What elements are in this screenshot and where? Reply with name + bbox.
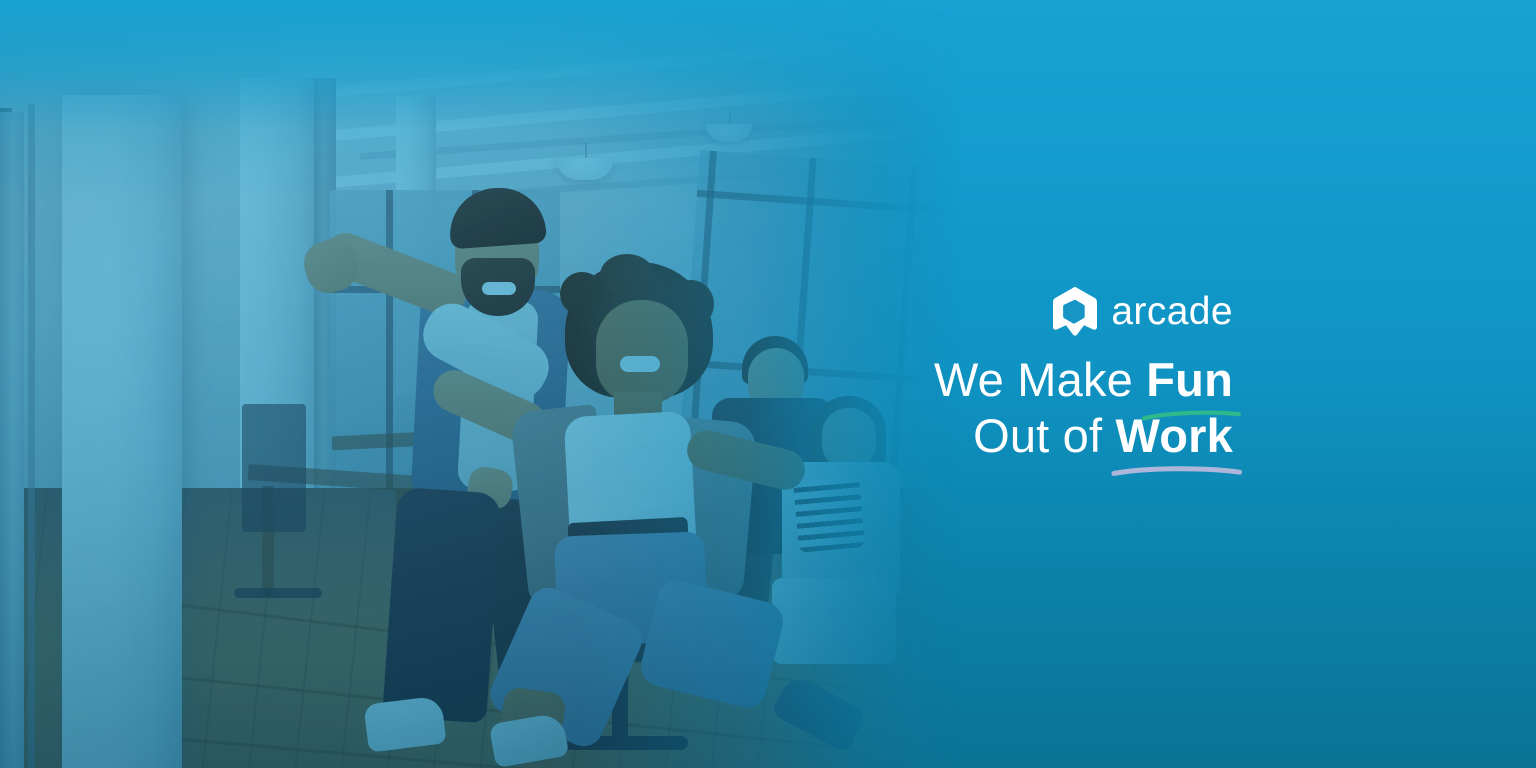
arcade-hexagon-pin-icon (1052, 286, 1098, 336)
photo-vignette (0, 0, 960, 768)
arcade-company-banner: arcade We Make Fun Out of Work (0, 0, 1536, 768)
photo-scene (0, 0, 960, 768)
lavender-brush-underline (1111, 464, 1242, 478)
hero-photo (0, 0, 960, 768)
headline-emphasis-fun: Fun (1146, 352, 1233, 408)
headline-line-2: Out of Work (934, 408, 1233, 464)
headline-line-1-bold: Fun (1146, 353, 1233, 406)
headline-line-1: We Make Fun (934, 352, 1233, 408)
brand-lockup[interactable]: arcade (934, 286, 1233, 336)
headline-line-2-light: Out of (973, 409, 1102, 462)
brand-wordmark: arcade (1111, 292, 1233, 331)
headline-line-1-light: We Make (934, 353, 1133, 406)
banner-content: arcade We Make Fun Out of Work (934, 286, 1233, 464)
headline-emphasis-work: Work (1116, 408, 1233, 464)
headline-line-2-bold: Work (1116, 409, 1233, 462)
